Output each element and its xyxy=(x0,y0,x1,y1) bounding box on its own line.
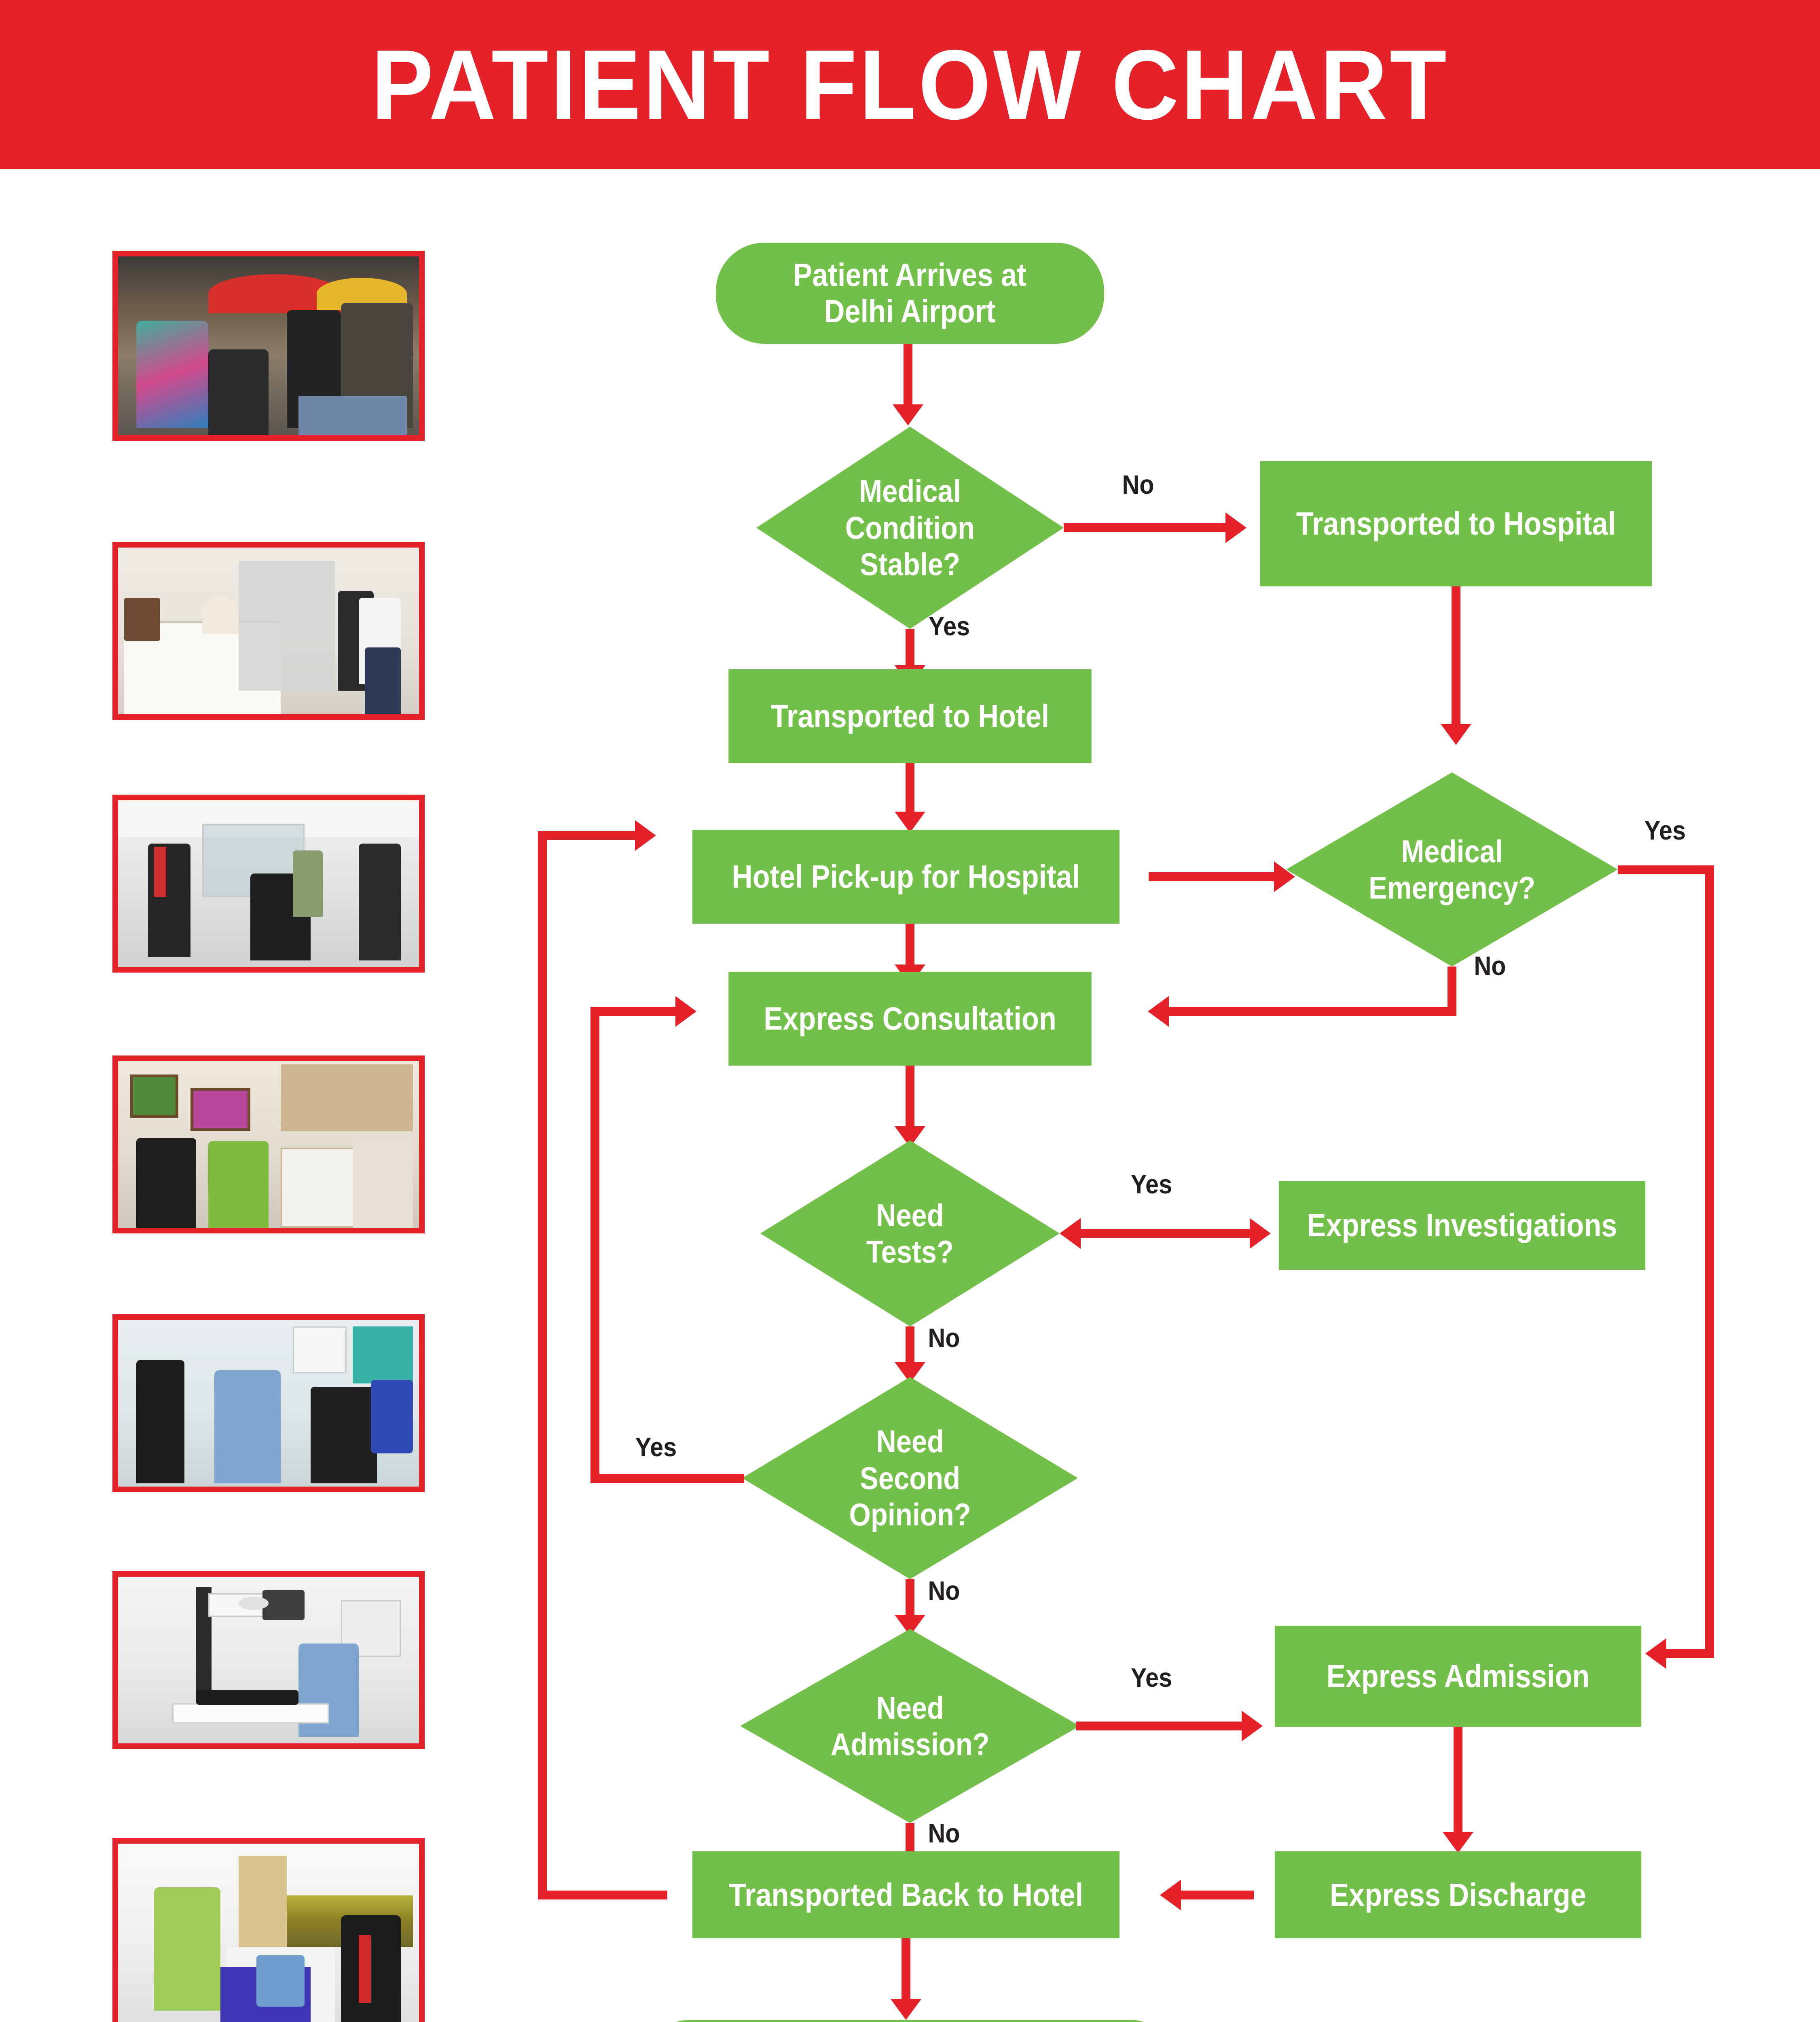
edge-tests-no xyxy=(906,1326,914,1366)
edge-label-admission-no: No xyxy=(928,1818,960,1849)
node-need-admission-label: Need Admission? xyxy=(831,1690,990,1763)
edge-label-tests-no: No xyxy=(928,1322,960,1353)
edge-second-yes-h xyxy=(590,1474,744,1483)
node-transported-back-to-hotel-label: Transported Back to Hotel xyxy=(729,1877,1083,1913)
node-express-discharge-label: Express Discharge xyxy=(1330,1877,1586,1913)
edge-emergency-yes-h2 xyxy=(1666,1649,1714,1658)
edge-stable-no xyxy=(1064,523,1230,532)
node-need-second-opinion-label: Need Second Opinion? xyxy=(849,1423,971,1533)
node-express-admission-label: Express Admission xyxy=(1327,1658,1590,1694)
edge-label-tests-yes: Yes xyxy=(1131,1169,1172,1199)
edge-hotel-to-pickup xyxy=(906,763,914,816)
node-express-admission[interactable]: Express Admission xyxy=(1275,1626,1641,1727)
edge-pickup-to-consultation xyxy=(906,924,914,968)
edge-emergency-no-h xyxy=(1169,1007,1456,1016)
edge-label-admission-yes: Yes xyxy=(1131,1662,1172,1693)
node-transported-back-to-hotel[interactable]: Transported Back to Hotel xyxy=(692,1851,1120,1938)
node-patient-arrives[interactable]: Patient Arrives at Delhi Airport xyxy=(716,243,1104,344)
node-transported-to-hotel[interactable]: Transported to Hotel xyxy=(728,669,1092,763)
edge-tests-investigations-arrowhead-left xyxy=(1060,1218,1081,1249)
edge-label-emergency-no: No xyxy=(1474,950,1506,981)
edge-backhotel-to-pickup-arrowhead xyxy=(635,820,656,851)
edge-label-emergency-yes: Yes xyxy=(1644,815,1686,846)
edge-label-second-no: No xyxy=(928,1575,960,1606)
photo-blood-sample xyxy=(112,1314,425,1492)
photo-airport-arrival xyxy=(112,251,425,441)
edge-admission-to-discharge xyxy=(1454,1727,1462,1836)
edge-second-yes-arrowhead xyxy=(675,996,696,1027)
photo-hospital-room-thumbsup xyxy=(112,1838,425,2022)
infographic-page: PATIENT FLOW CHART xyxy=(0,0,1820,2022)
edge-backhotel-to-pickup-h2 xyxy=(538,831,639,840)
edge-backhotel-to-pickup-h xyxy=(538,1891,667,1899)
edge-admission-yes-arrowhead xyxy=(1242,1711,1263,1741)
photo-hospital-lobby xyxy=(112,795,425,973)
node-need-tests-label: Need Tests? xyxy=(866,1197,954,1270)
node-express-investigations-label: Express Investigations xyxy=(1307,1207,1617,1244)
edge-discharge-to-backhotel-arrowhead xyxy=(1160,1880,1181,1910)
edge-admission-to-discharge-arrowhead xyxy=(1443,1832,1473,1853)
node-hotel-pickup-label: Hotel Pick-up for Hospital xyxy=(732,859,1080,895)
photo-hospital-lobby-image xyxy=(118,800,419,967)
edge-second-yes-v xyxy=(590,1007,599,1483)
edge-tests-investigations xyxy=(1081,1229,1255,1238)
node-express-consultation[interactable]: Express Consultation xyxy=(728,972,1092,1066)
photo-doctor-consultation xyxy=(112,1055,425,1233)
edge-hospital-to-emergency-arrowhead xyxy=(1441,724,1471,745)
node-express-investigations[interactable]: Express Investigations xyxy=(1279,1181,1645,1270)
edge-stable-no-arrowhead xyxy=(1225,512,1246,543)
photo-hospital-room-thumbsup-image xyxy=(118,1844,419,2022)
edge-arrive-to-stable xyxy=(904,344,912,408)
node-medical-condition-stable[interactable]: Medical Condition Stable? xyxy=(756,427,1064,629)
edge-label-second-yes: Yes xyxy=(635,1432,677,1462)
page-title: PATIENT FLOW CHART xyxy=(371,27,1449,142)
edge-admission-yes xyxy=(1076,1722,1246,1730)
node-patient-dropped-back[interactable]: Patient is Dropped Back at the Airport xyxy=(641,2020,1179,2022)
photo-hotel-room xyxy=(112,542,425,720)
node-need-tests[interactable]: Need Tests? xyxy=(760,1140,1060,1326)
edge-stable-yes xyxy=(906,629,914,669)
node-express-consultation-label: Express Consultation xyxy=(764,1000,1056,1037)
edge-consultation-to-tests xyxy=(906,1066,914,1130)
node-hotel-pickup[interactable]: Hotel Pick-up for Hospital xyxy=(692,830,1120,924)
edge-label-stable-yes: Yes xyxy=(929,611,970,641)
node-patient-arrives-label: Patient Arrives at Delhi Airport xyxy=(794,257,1026,329)
node-transported-to-hospital[interactable]: Transported to Hospital xyxy=(1260,461,1652,586)
edge-emergency-yes-h xyxy=(1618,865,1714,874)
edge-second-yes-h2 xyxy=(590,1007,679,1016)
edge-second-no xyxy=(906,1579,914,1619)
photo-xray-imaging-image xyxy=(118,1577,419,1743)
edge-backhotel-to-dropped-arrowhead xyxy=(891,1999,921,2020)
photo-doctor-consultation-image xyxy=(118,1061,419,1228)
node-transported-to-hotel-label: Transported to Hotel xyxy=(771,698,1049,734)
photo-hotel-room-image xyxy=(118,548,419,714)
node-medical-emergency-label: Medical Emergency? xyxy=(1369,833,1535,906)
edge-arrive-to-stable-arrowhead xyxy=(893,404,923,425)
node-medical-emergency[interactable]: Medical Emergency? xyxy=(1286,772,1618,967)
edge-pickup-to-emergency xyxy=(1149,872,1278,881)
edge-tests-investigations-arrowhead-right xyxy=(1250,1218,1271,1249)
header-banner: PATIENT FLOW CHART xyxy=(0,0,1820,169)
photo-blood-sample-image xyxy=(118,1320,419,1487)
edge-emergency-yes-v xyxy=(1705,865,1714,1658)
edge-emergency-no-arrowhead xyxy=(1148,996,1169,1027)
edge-emergency-yes-arrowhead xyxy=(1645,1638,1666,1669)
node-need-admission-shape[interactable]: Need Admission? xyxy=(740,1629,1080,1823)
node-medical-condition-stable-label: Medical Condition Stable? xyxy=(845,473,975,582)
edge-hospital-to-emergency xyxy=(1452,586,1460,728)
edge-backhotel-to-pickup-v xyxy=(538,831,547,1899)
photo-xray-imaging xyxy=(112,1571,425,1749)
edge-discharge-to-backhotel xyxy=(1181,1891,1254,1899)
node-need-second-opinion[interactable]: Need Second Opinion? xyxy=(742,1377,1078,1579)
edge-backhotel-to-dropped xyxy=(902,1938,910,2003)
node-express-discharge[interactable]: Express Discharge xyxy=(1275,1851,1641,1938)
node-transported-to-hospital-label: Transported to Hospital xyxy=(1296,505,1616,542)
photo-airport-arrival-image xyxy=(118,256,419,435)
edge-label-stable-no: No xyxy=(1122,469,1154,500)
